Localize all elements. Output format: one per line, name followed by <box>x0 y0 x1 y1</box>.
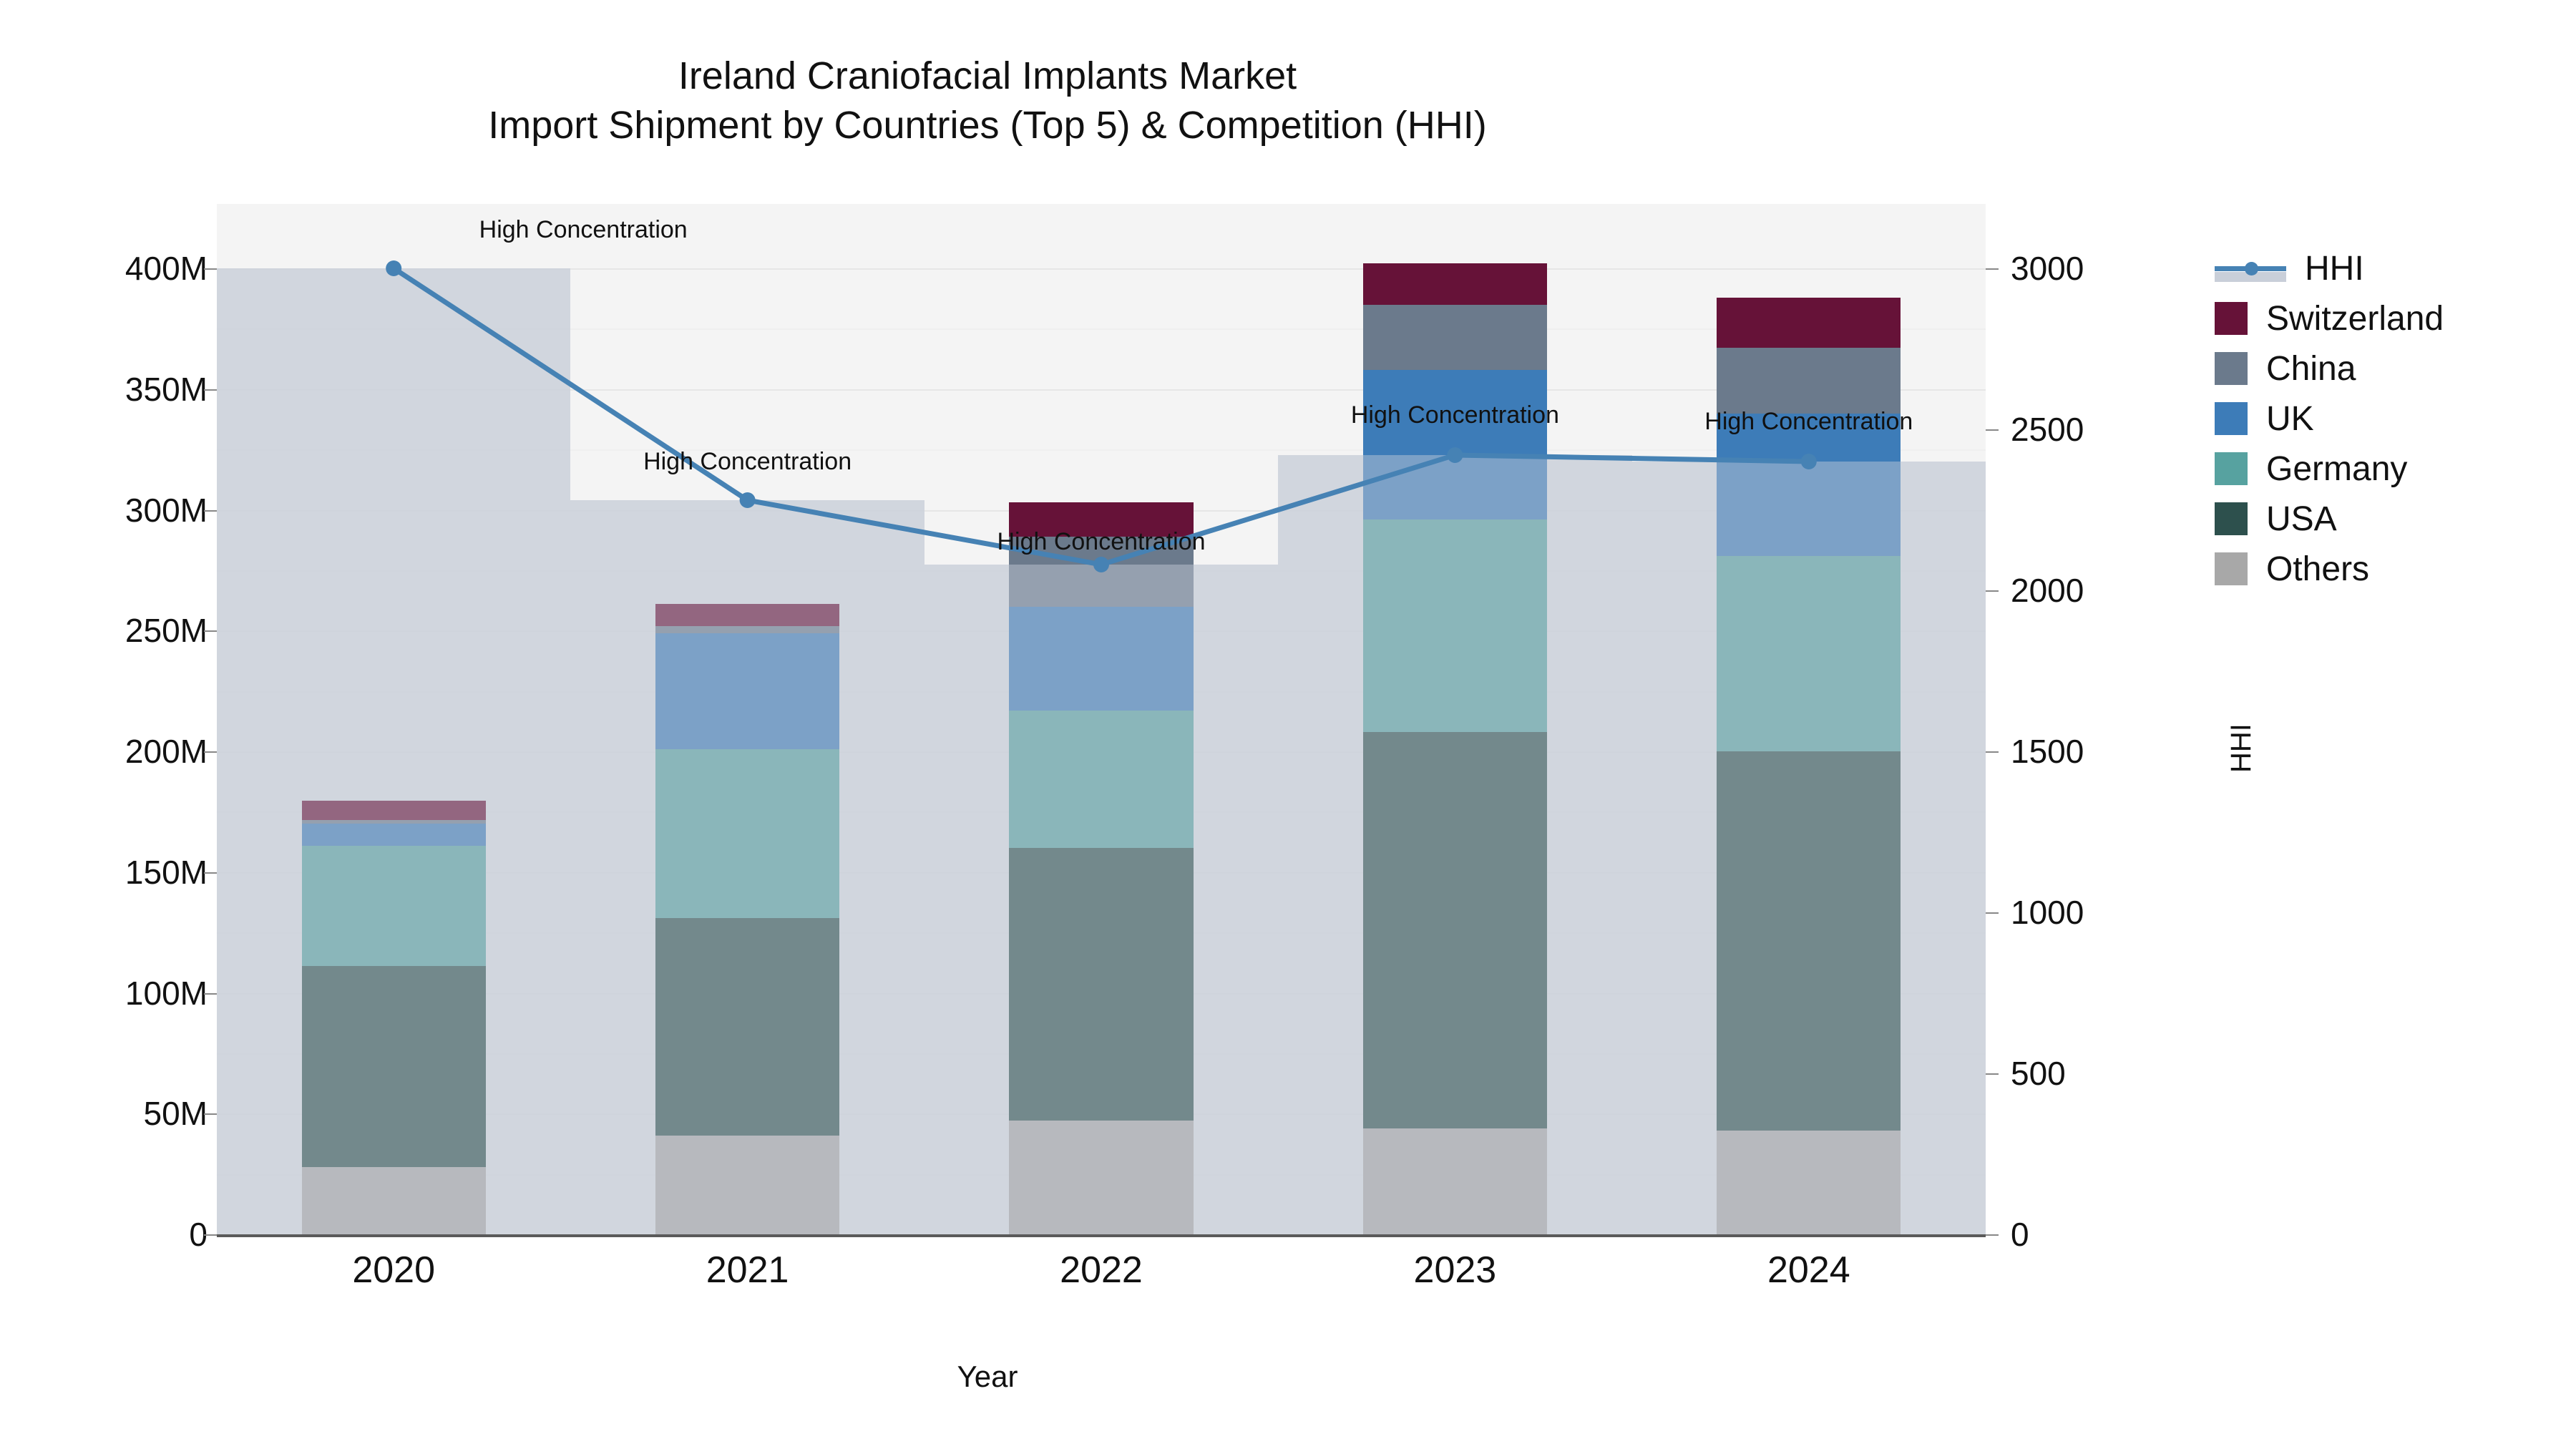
y-axis-left-tick-label: 100M <box>0 974 208 1013</box>
y-axis-right-tick-mark <box>1986 268 1999 270</box>
legend-item[interactable]: USA <box>2215 494 2444 544</box>
hhi-annotation: High Concentration <box>1704 408 1913 436</box>
y-axis-left-tick-mark <box>204 993 217 995</box>
legend-item[interactable]: Germany <box>2215 444 2444 494</box>
y-axis-left-tick-mark <box>204 268 217 270</box>
y-axis-left-tick-label: 200M <box>0 732 208 771</box>
y-axis-right-label: HHI <box>2225 723 2258 773</box>
y-axis-left-tick-mark <box>204 872 217 874</box>
y-axis-right-tick-label: 500 <box>2011 1054 2225 1093</box>
y-axis-left-tick-label: 0 <box>0 1215 208 1254</box>
y-axis-left-tick-label: 50M <box>0 1094 208 1133</box>
legend-item[interactable]: China <box>2215 343 2444 394</box>
hhi-data-point[interactable] <box>740 492 756 508</box>
hhi-data-point[interactable] <box>386 260 401 276</box>
x-axis-tick-label: 2020 <box>352 1249 435 1292</box>
legend-item[interactable]: UK <box>2215 394 2444 444</box>
legend-item[interactable]: Others <box>2215 544 2444 594</box>
y-axis-right-tick-label: 3000 <box>2011 249 2225 288</box>
legend-item-label: China <box>2266 349 2356 389</box>
hhi-annotation: High Concentration <box>997 528 1205 556</box>
y-axis-left-tick-label: 300M <box>0 491 208 530</box>
legend-item-label: USA <box>2266 499 2337 539</box>
legend-item-label: HHI <box>2305 249 2364 288</box>
hhi-data-point[interactable] <box>1093 557 1109 572</box>
y-axis-left-tick-mark <box>204 510 217 512</box>
y-axis-left-tick-label: 250M <box>0 611 208 650</box>
legend-item-label: Switzerland <box>2266 299 2444 338</box>
hhi-data-point[interactable] <box>1447 447 1463 463</box>
y-axis-left-tick-mark <box>204 1113 217 1115</box>
y-axis-left-tick-label: 150M <box>0 853 208 892</box>
y-axis-right-tick-label: 1000 <box>2011 893 2225 932</box>
x-axis-label: Year <box>0 1360 1975 1394</box>
y-axis-right-tick-mark <box>1986 429 1999 431</box>
y-axis-right-tick-mark <box>1986 1234 1999 1236</box>
legend-item-label: Germany <box>2266 449 2407 489</box>
chart-root: Ireland Craniofacial Implants Market Imp… <box>0 0 2576 1449</box>
legend-color-swatch <box>2215 352 2248 385</box>
x-axis-tick-label: 2024 <box>1767 1249 1850 1292</box>
y-axis-right-tick-label: 0 <box>2011 1215 2225 1254</box>
y-axis-left-tick-label: 400M <box>0 249 208 288</box>
legend-item-label: UK <box>2266 399 2314 439</box>
y-axis-left-tick-label: 350M <box>0 370 208 409</box>
hhi-line-series <box>217 0 1986 1245</box>
y-axis-right-tick-label: 2000 <box>2011 571 2225 610</box>
x-axis-baseline <box>217 1234 1986 1237</box>
y-axis-right-tick-mark <box>1986 912 1999 914</box>
legend-item-label: Others <box>2266 550 2369 589</box>
hhi-annotation: High Concentration <box>643 448 852 476</box>
hhi-annotation: High Concentration <box>1351 401 1559 429</box>
legend-line-icon <box>2215 252 2286 285</box>
x-axis-tick-label: 2023 <box>1414 1249 1497 1292</box>
legend-item[interactable]: HHI <box>2215 243 2444 293</box>
chart-legend: HHISwitzerlandChinaUKGermanyUSAOthers <box>2215 243 2444 594</box>
y-axis-right-tick-label: 1500 <box>2011 732 2225 771</box>
x-axis-tick-label: 2021 <box>706 1249 789 1292</box>
x-axis-tick-label: 2022 <box>1060 1249 1143 1292</box>
y-axis-right-tick-mark <box>1986 590 1999 592</box>
legend-item[interactable]: Switzerland <box>2215 293 2444 343</box>
y-axis-left-tick-mark <box>204 630 217 632</box>
hhi-polyline <box>394 268 1809 565</box>
y-axis-right-tick-label: 2500 <box>2011 410 2225 449</box>
y-axis-left-tick-mark <box>204 751 217 753</box>
hhi-data-point[interactable] <box>1801 454 1817 469</box>
legend-color-swatch <box>2215 452 2248 485</box>
legend-color-swatch <box>2215 302 2248 335</box>
legend-color-swatch <box>2215 502 2248 535</box>
y-axis-left-tick-mark <box>204 389 217 391</box>
y-axis-left-tick-mark <box>204 1234 217 1236</box>
hhi-annotation: High Concentration <box>479 216 688 244</box>
y-axis-right-tick-mark <box>1986 1073 1999 1075</box>
y-axis-right-tick-mark <box>1986 751 1999 753</box>
legend-color-swatch <box>2215 402 2248 435</box>
legend-color-swatch <box>2215 552 2248 585</box>
